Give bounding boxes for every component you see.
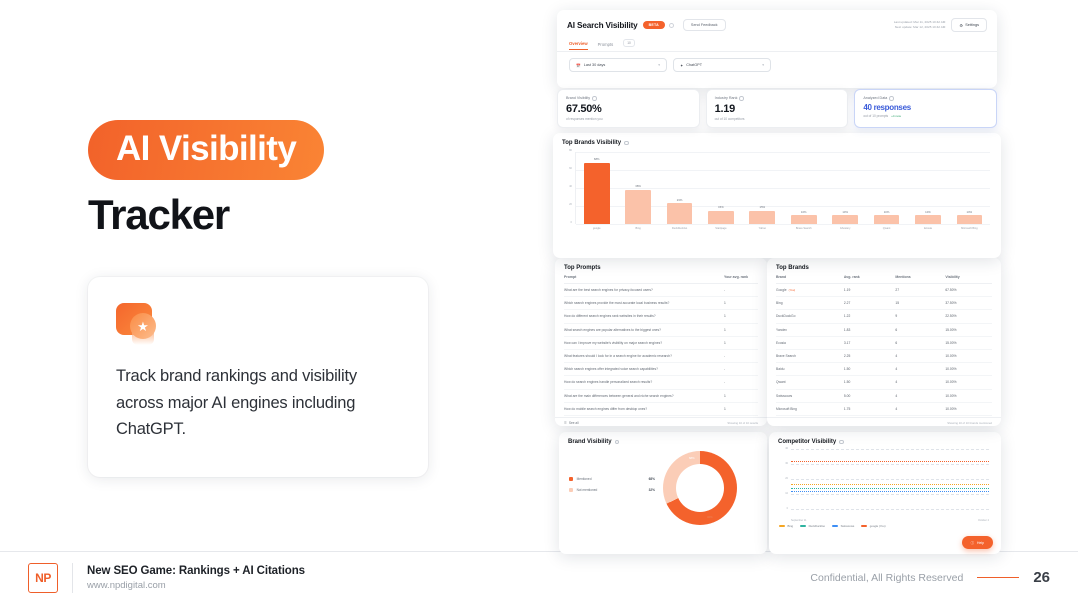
competitor-visibility-card: Competitor Visibility 010203040 Septembe… — [769, 432, 1001, 554]
legend-label: Swisscows — [841, 524, 855, 528]
line-chart-plot — [791, 450, 989, 510]
bar-chart-y-axis: 020406080 — [562, 152, 574, 224]
bar-column[interactable]: 68%google — [576, 152, 617, 224]
settings-button[interactable]: ⚙ Settings — [951, 18, 987, 32]
card-title-text: Brand Visibility — [568, 439, 612, 445]
brand-visibility: 37.50% — [945, 297, 992, 310]
brand-mentions: 9 — [895, 310, 945, 323]
legend-label: google (You) — [870, 524, 886, 528]
brand-mentions: 4 — [895, 376, 945, 389]
kpi-sub-text: out of 10 prompts — [863, 114, 888, 118]
table-row[interactable]: Qwant1.50410.00% — [776, 376, 992, 389]
bar-value-label: 10% — [967, 210, 973, 214]
legend-item-not-mentioned: Not mentioned 32% — [569, 488, 655, 492]
update-meta: Last updated: Mar 11, 2025 10:42 AM Next… — [894, 20, 946, 30]
beta-badge: BETA — [643, 21, 665, 29]
grid-line — [791, 509, 989, 510]
page-title-sub: Tracker — [88, 194, 448, 236]
engine-value: ChatGPT — [686, 63, 702, 67]
see-all-prompts-button[interactable]: ☰ See all — [564, 421, 579, 425]
kpi-card-industry-rank: Industry Rank 1.19 out of 10 competitors — [706, 89, 849, 128]
bar-value-label: 10% — [925, 210, 931, 214]
legend-item[interactable]: DuckDuckGo — [800, 524, 825, 528]
chevron-down-icon: ▾ — [762, 63, 764, 67]
bar-column[interactable]: 10%Ecosia — [907, 152, 948, 224]
bar-column[interactable]: 15%Yahoo — [742, 152, 783, 224]
page-title-pill: AI Visibility — [88, 120, 324, 180]
bar-chart: 020406080 68%google38%Bing23%DuckDuckGo1… — [562, 152, 992, 238]
donut-label-not-mentioned: 32% — [707, 515, 713, 519]
legend-item[interactable]: google (You) — [861, 524, 885, 528]
kpi-label-text: Brand Visibility — [566, 96, 590, 100]
prompt-text: How do mobile search engines differ from… — [564, 402, 724, 415]
bar-column[interactable]: 38%Bing — [617, 152, 658, 224]
brand-avg-rank: 1.19 — [844, 284, 895, 297]
y-tick-label: 60 — [569, 167, 572, 170]
legend-value: 32% — [649, 488, 655, 492]
prompt-avg-rank: - — [724, 284, 758, 297]
card-title-text: Top Brands Visibility — [562, 140, 621, 146]
brand-visibility: 22.50% — [945, 310, 992, 323]
kpi-card-analyzed-data: Analyzed Data 40 responses out of 10 pro… — [854, 89, 997, 128]
prompt-avg-rank: - — [724, 363, 758, 376]
top-brands-visibility-card: Top Brands Visibility 020406080 68%googl… — [553, 133, 1001, 258]
table-header-row: Prompt Your avg. rank — [564, 271, 758, 284]
bar[interactable] — [957, 215, 983, 224]
info-icon[interactable] — [839, 440, 844, 445]
bar-category-label: Microsoft Bing — [938, 227, 1000, 230]
kpi-value: 1.19 — [715, 103, 840, 115]
y-tick-label: 40 — [569, 185, 572, 188]
brand-mentions: 6 — [895, 336, 945, 349]
dashboard-screenshot: AI Search Visibility BETA Send Feedback … — [545, 5, 1005, 555]
brand-avg-rank: 1.50 — [844, 363, 895, 376]
bar[interactable] — [625, 190, 651, 224]
brand-visibility: 67.50% — [945, 284, 992, 297]
donut-legend: Mentioned 68% Not mentioned 32% — [569, 477, 655, 499]
table-row[interactable]: What are the best search engines for pri… — [564, 284, 758, 297]
table-row[interactable]: Which search engines offer integrated vo… — [564, 363, 758, 376]
info-icon[interactable] — [615, 440, 620, 445]
brand-visibility-card: Brand Visibility Mentioned 68% Not menti… — [559, 432, 767, 554]
table-row[interactable]: How can I improve my website's visibilit… — [564, 336, 758, 349]
x-tick-end: October 2 — [978, 519, 989, 522]
kpi-card-brand-visibility: Brand Visibility 67.50% of responses men… — [557, 89, 700, 128]
legend-swatch — [861, 525, 867, 526]
y-tick-label: 30 — [785, 462, 788, 465]
top-prompts-card: Top Prompts Prompt Your avg. rank What a… — [555, 258, 767, 426]
legend-label: Bing — [788, 524, 794, 528]
y-tick-label: 40 — [785, 447, 788, 450]
bar-column[interactable]: 10%Brave Search — [783, 152, 824, 224]
kpi-label-text: Industry Rank — [715, 96, 738, 100]
brand-name: Ecosia — [776, 336, 844, 349]
bar-value-label: 10% — [842, 210, 848, 214]
y-tick-label: 10 — [785, 492, 788, 495]
brand-avg-rank: 2.27 — [844, 297, 895, 310]
table-row[interactable]: Which search engines provide the most ac… — [564, 297, 758, 310]
table-row[interactable]: Google(You)1.192767.50% — [776, 284, 992, 297]
bar-value-label: 23% — [677, 198, 683, 202]
bar[interactable] — [832, 215, 858, 224]
donut-chart: 68% 32% — [663, 451, 737, 525]
column-header-brand[interactable]: Brand — [776, 271, 844, 284]
brand-mentions: 15 — [895, 297, 945, 310]
brand-visibility: 10.00% — [945, 389, 992, 402]
column-header-visibility[interactable]: Visibility — [945, 271, 992, 284]
x-tick-start: September 11 — [791, 519, 807, 522]
tab-prompts-count: 10 — [623, 39, 635, 47]
bar-value-label: 38% — [635, 184, 641, 188]
card-title-text: Top Brands — [776, 265, 809, 271]
prompt-text: What features should I look for in a sea… — [564, 349, 724, 362]
y-tick-label: 20 — [569, 203, 572, 206]
next-update-text: Next update: Mar 12, 2025 10:42 AM — [894, 25, 946, 30]
feature-description-card: ★ Track brand rankings and visibility ac… — [88, 277, 428, 477]
kpi-value: 40 responses — [863, 103, 988, 112]
y-tick-label: 0 — [571, 221, 572, 224]
top-brands-body: Google(You)1.192767.50%Bing2.271537.50%D… — [776, 284, 992, 416]
series-line — [791, 491, 989, 492]
grid-line — [791, 479, 989, 480]
line-chart-y-axis: 010203040 — [779, 450, 790, 510]
bar-column[interactable]: 23%DuckDuckGo — [659, 152, 700, 224]
card-title-text: Top Prompts — [564, 265, 601, 271]
prompt-text: Which search engines provide the most ac… — [564, 297, 724, 310]
card-title-text: Competitor Visibility — [778, 439, 836, 445]
table-row[interactable]: Brave Search2.25410.00% — [776, 349, 992, 362]
brand-visibility: 10.00% — [945, 402, 992, 415]
prompt-avg-rank: 1 — [724, 310, 758, 323]
legend-swatch — [569, 488, 573, 492]
y-tick-label: 0 — [787, 507, 788, 510]
bar-value-label: 68% — [594, 157, 600, 161]
legend-swatch — [800, 525, 806, 526]
dashboard-header-panel: AI Search Visibility BETA Send Feedback … — [557, 10, 997, 88]
y-tick-label: 80 — [569, 149, 572, 152]
table-row[interactable]: Yandex1.83615.00% — [776, 323, 992, 336]
bar-value-label: 15% — [760, 205, 766, 209]
brand-avg-rank: 1.75 — [844, 402, 895, 415]
brand-name: Baidu — [776, 363, 844, 376]
legend-item-mentioned: Mentioned 68% — [569, 477, 655, 481]
app-title: AI Search Visibility — [567, 21, 638, 30]
prompt-avg-rank: 1 — [724, 297, 758, 310]
prompt-text: How can I improve my website's visibilit… — [564, 336, 724, 349]
column-header-avg-rank[interactable]: Avg. rank — [844, 271, 895, 284]
brand-name: Brave Search — [776, 349, 844, 362]
prompt-avg-rank: 1 — [724, 389, 758, 402]
top-brands-card: Top Brands Brand Avg. rank Mentions Visi… — [767, 258, 1001, 426]
top-brands-table: Brand Avg. rank Mentions Visibility Goog… — [776, 271, 992, 416]
legend-value: 68% — [649, 477, 655, 481]
brand-visibility: 10.00% — [945, 363, 992, 376]
table-row[interactable]: DuckDuckGo1.22922.50% — [776, 310, 992, 323]
table-row[interactable]: How do search engines handle personalize… — [564, 376, 758, 389]
brand-avg-rank: 5.00 — [844, 389, 895, 402]
star-badge-icon: ★ — [116, 303, 158, 341]
bar[interactable] — [667, 203, 693, 224]
legend-item[interactable]: Swisscows — [832, 524, 854, 528]
brand-avg-rank: 1.83 — [844, 323, 895, 336]
info-icon — [669, 23, 674, 28]
bar[interactable] — [874, 215, 900, 224]
brand-mentions: 4 — [895, 349, 945, 362]
column-header-your-avg-rank[interactable]: Your avg. rank — [724, 271, 758, 284]
table-row[interactable]: Baidu1.50410.00% — [776, 363, 992, 376]
info-icon[interactable] — [889, 96, 894, 101]
bar[interactable] — [749, 211, 775, 225]
bar-value-label: 15% — [718, 205, 724, 209]
bar[interactable] — [791, 215, 817, 224]
kpi-sub-text: of responses mention you — [566, 117, 603, 121]
legend-swatch — [569, 477, 573, 481]
kpi-value: 67.50% — [566, 103, 691, 115]
table-row[interactable]: How do mobile search engines differ from… — [564, 402, 758, 415]
prompt-text: Which search engines offer integrated vo… — [564, 363, 724, 376]
footer-title: New SEO Game: Rankings + AI Citations — [87, 565, 305, 577]
brand-visibility: 10.00% — [945, 349, 992, 362]
line-chart-x-axis: September 11 October 2 — [791, 519, 989, 522]
brand-visibility: 10.00% — [945, 376, 992, 389]
kpi-label-text: Analyzed Data — [863, 96, 887, 100]
footer-separator — [72, 563, 73, 593]
prompt-text: What are the best search engines for pri… — [564, 284, 724, 297]
bar-chart-plot: 68%google38%Bing23%DuckDuckGo15%Startpag… — [575, 152, 990, 224]
brand-name: Qwant — [776, 376, 844, 389]
brand-mentions: 4 — [895, 363, 945, 376]
donut-label-mentioned: 68% — [689, 456, 695, 460]
bar-column[interactable]: 10%Ghostery — [824, 152, 865, 224]
bar-value-label: 10% — [884, 210, 890, 214]
bar[interactable] — [584, 163, 610, 224]
footer-confidential: Confidential, All Rights Reserved — [810, 572, 963, 584]
bar-column[interactable]: 15%Startpage — [700, 152, 741, 224]
column-header-mentions[interactable]: Mentions — [895, 271, 945, 284]
line-chart: 010203040 September 11 October 2 — [779, 450, 991, 522]
table-row[interactable]: What are the main differences between ge… — [564, 389, 758, 402]
y-tick-label: 20 — [785, 477, 788, 480]
brand-mentions: 4 — [895, 402, 945, 415]
info-icon[interactable] — [592, 96, 597, 101]
table-row[interactable]: What features should I look for in a sea… — [564, 349, 758, 362]
slide-footer: NP New SEO Game: Rankings + AI Citations… — [0, 552, 1078, 603]
line-chart-legend: BingDuckDuckGoSwisscowsgoogle (You) — [769, 522, 1001, 528]
brand-mentions: 4 — [895, 389, 945, 402]
footer-page-number: 26 — [1033, 569, 1050, 586]
top-prompts-body: What are the best search engines for pri… — [564, 284, 758, 416]
chevron-down-icon: ▾ — [658, 63, 660, 67]
prompt-text: What are the main differences between ge… — [564, 389, 724, 402]
grid-line — [791, 494, 989, 495]
series-line — [791, 484, 989, 485]
brand-visibility: 15.00% — [945, 336, 992, 349]
bar-column[interactable]: 10%Microsoft Bing — [949, 152, 990, 224]
grid-line — [791, 464, 989, 465]
info-icon[interactable] — [624, 141, 629, 146]
brand-avg-rank: 3.17 — [844, 336, 895, 349]
table-row[interactable]: Ecosia3.17615.00% — [776, 336, 992, 349]
gear-icon: ⚙ — [959, 23, 962, 28]
prompts-showing-count: Showing 10 of 10 results — [727, 421, 758, 425]
legend-swatch — [832, 525, 838, 526]
send-feedback-button[interactable]: Send Feedback — [683, 19, 726, 31]
settings-label: Settings — [965, 23, 979, 27]
table-row[interactable]: What search engines are popular alternat… — [564, 323, 758, 336]
kpi-card-row: Brand Visibility 67.50% of responses men… — [557, 89, 997, 128]
brand-visibility: 15.00% — [945, 323, 992, 336]
prompt-avg-rank: 1 — [724, 323, 758, 336]
series-line — [791, 488, 989, 489]
kpi-sub-text: out of 10 competitors — [715, 117, 745, 121]
help-label: Help — [977, 541, 984, 545]
prompt-avg-rank: - — [724, 349, 758, 362]
prompt-text: How do search engines handle personalize… — [564, 376, 724, 389]
brand-mentions: 6 — [895, 323, 945, 336]
brand-avg-rank: 1.50 — [844, 376, 895, 389]
brand-name: Swisscows — [776, 389, 844, 402]
you-tag: (You) — [789, 288, 796, 292]
bar[interactable] — [708, 211, 734, 225]
series-line — [791, 461, 989, 462]
sparkle-icon: ✦ — [680, 63, 683, 68]
info-icon[interactable] — [739, 96, 744, 101]
bar-chart-bars: 68%google38%Bing23%DuckDuckGo15%Startpag… — [576, 152, 990, 224]
brands-showing-count: Showing 10 of 10 brands mentioned — [947, 421, 992, 425]
kpi-new-chip: +4 new — [891, 114, 901, 118]
prompt-avg-rank: - — [724, 376, 758, 389]
legend-swatch — [779, 525, 785, 526]
slide-heading-block: AI Visibility Tracker — [88, 120, 448, 236]
date-range-value: Last 30 days — [584, 63, 606, 67]
footer-accent-line — [977, 577, 1019, 579]
legend-label: Not mentioned — [577, 488, 598, 492]
brand-avg-rank: 2.25 — [844, 349, 895, 362]
legend-label: DuckDuckGo — [809, 524, 825, 528]
brand-name: DuckDuckGo — [776, 310, 844, 323]
brand-name: Yandex — [776, 323, 844, 336]
date-range-select[interactable]: 📅 Last 30 days ▾ — [569, 58, 667, 72]
brand-avg-rank: 1.22 — [844, 310, 895, 323]
brand-name: Microsoft Bing — [776, 402, 844, 415]
question-icon: ⓘ — [971, 540, 974, 545]
footer-url: www.npdigital.com — [87, 580, 305, 591]
table-row[interactable]: Microsoft Bing1.75410.00% — [776, 402, 992, 415]
see-all-label: See all — [569, 421, 579, 425]
calendar-icon: 📅 — [576, 63, 581, 68]
bar[interactable] — [915, 215, 941, 224]
legend-label: Mentioned — [577, 477, 592, 481]
prompt-text: How do different search engines rank web… — [564, 310, 724, 323]
bar-value-label: 10% — [801, 210, 807, 214]
np-logo: NP — [28, 563, 58, 593]
column-header-prompt[interactable]: Prompt — [564, 271, 724, 284]
brand-name: Bing — [776, 297, 844, 310]
table-row[interactable]: Bing2.271537.50% — [776, 297, 992, 310]
help-button[interactable]: ⓘ Help — [962, 536, 993, 549]
grid-line — [791, 449, 989, 450]
table-row[interactable]: How do different search engines rank web… — [564, 310, 758, 323]
brand-mentions: 27 — [895, 284, 945, 297]
bar-column[interactable]: 10%Qwant — [866, 152, 907, 224]
engine-select[interactable]: ✦ ChatGPT ▾ — [673, 58, 771, 72]
tab-prompts[interactable]: Prompts — [598, 42, 614, 50]
legend-item[interactable]: Bing — [779, 524, 793, 528]
expand-icon: ☰ — [564, 421, 567, 425]
brand-name: Google(You) — [776, 284, 844, 297]
tab-overview[interactable]: Overview — [569, 41, 588, 50]
prompt-avg-rank: 1 — [724, 336, 758, 349]
table-header-row: Brand Avg. rank Mentions Visibility — [776, 271, 992, 284]
table-row[interactable]: Swisscows5.00410.00% — [776, 389, 992, 402]
feature-description-text: Track brand rankings and visibility acro… — [116, 363, 400, 443]
top-prompts-table: Prompt Your avg. rank What are the best … — [564, 271, 758, 416]
prompt-text: What search engines are popular alternat… — [564, 323, 724, 336]
prompt-avg-rank: 1 — [724, 402, 758, 415]
